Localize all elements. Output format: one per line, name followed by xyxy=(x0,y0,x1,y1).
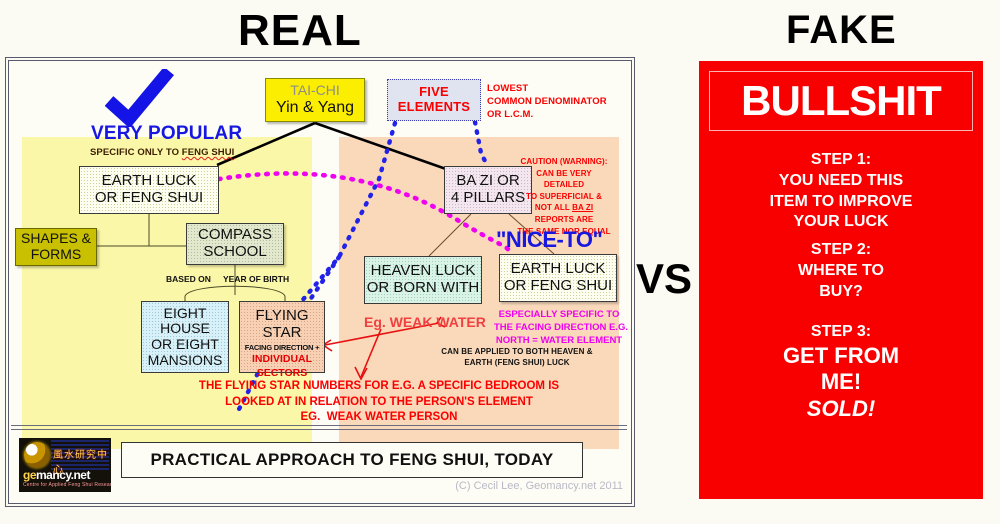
node-flying-star-line2: STAR xyxy=(263,325,302,342)
step3-line2: GET FROM xyxy=(700,343,982,369)
node-heaven-line2: OR BORN WITH xyxy=(367,280,480,297)
especially-specific-note: ESPECIALLY SPECIFIC TOTHE FACING DIRECTI… xyxy=(494,309,624,347)
blue-check-icon xyxy=(105,69,175,127)
specific-only-to-feng-shui-label: SPECIFIC ONLY TO FENG SHUI xyxy=(90,147,234,158)
step1-line3: ITEM TO IMPROVE xyxy=(770,193,913,210)
very-popular-label: VERY POPULAR xyxy=(91,123,242,145)
step-2-block: STEP 2: WHERE TO BUY? xyxy=(700,240,982,302)
flying-star-numbers-note: THE FLYING STAR NUMBERS FOR E.G. A SPECI… xyxy=(169,379,589,426)
caution-line6: REPORTS ARE xyxy=(535,215,594,224)
node-heaven-luck[interactable]: HEAVEN LUCK OR BORN WITH xyxy=(364,256,482,304)
caution-line5-a: NOT ALL xyxy=(535,203,572,212)
can-be-applied-note: CAN BE APPLIED TO BOTH HEAVEN &EARTH (FE… xyxy=(417,346,617,368)
flying-note-line2: LOOKED AT IN RELATION TO THE PERSON'S EL… xyxy=(225,396,533,408)
node-flying-star[interactable]: FLYING STAR FACING DIRECTION + INDIVIDUA… xyxy=(239,301,325,373)
node-flying-star-red1: INDIVIDUAL xyxy=(252,354,312,366)
caution-warning-note: CAUTION (WARNING):CAN BE VERYDETAILEDTO … xyxy=(509,156,619,237)
node-eight-house[interactable]: EIGHT HOUSE OR EIGHT MANSIONS xyxy=(141,301,229,373)
step3-line4: SOLD! xyxy=(700,396,982,422)
caution-line1: CAUTION (WARNING): xyxy=(520,157,607,166)
node-compass-school[interactable]: COMPASS SCHOOL xyxy=(186,223,284,265)
flying-note-line1: THE FLYING STAR NUMBERS FOR E.G. A SPECI… xyxy=(199,380,559,392)
lcm-line3: OR L.C.M. xyxy=(487,109,533,120)
node-five-elements[interactable]: FIVE ELEMENTS xyxy=(387,79,481,121)
node-earth-luck-feng-shui-right[interactable]: EARTH LUCK OR FENG SHUI xyxy=(499,254,617,302)
node-flying-star-line1: FLYING xyxy=(255,308,308,325)
lcm-line2: COMMON DENOMINATOR xyxy=(487,96,607,107)
especially-line1: ESPECIALLY SPECIFIC TO xyxy=(499,309,620,320)
node-tai-chi-line2: Yin & Yang xyxy=(276,99,354,117)
specific-underlined: FENG SHUI xyxy=(182,147,235,158)
step2-line2: WHERE TO xyxy=(798,262,884,279)
node-shapes-line1: SHAPES & xyxy=(21,231,91,247)
node-five-elements-line1: FIVE xyxy=(419,85,449,100)
node-earth-luck-left-line2: OR FENG SHUI xyxy=(95,190,203,207)
step2-line1: STEP 2: xyxy=(811,241,871,258)
caution-line5-b: BA ZI xyxy=(572,203,593,212)
node-earth-luck-left-line1: EARTH LUCK xyxy=(102,173,197,190)
step3-line3: ME! xyxy=(700,369,982,395)
especially-line2: THE FACING DIRECTION E.G. xyxy=(494,322,628,333)
flying-note-line3: EG. WEAK WATER PERSON xyxy=(301,411,458,423)
step-3-block: STEP 3: GET FROM ME! SOLD! xyxy=(700,322,982,422)
fake-bullshit-panel: BULLSHIT STEP 1: YOU NEED THIS ITEM TO I… xyxy=(700,62,982,498)
step1-line1: STEP 1: xyxy=(811,151,871,168)
vs-label: VS xyxy=(636,255,692,303)
real-panel-inner: VERY POPULAR SPECIFIC ONLY TO FENG SHUI … xyxy=(9,61,631,503)
step-1-block: STEP 1: YOU NEED THIS ITEM TO IMPROVE YO… xyxy=(700,150,982,233)
step1-line2: YOU NEED THIS xyxy=(779,172,903,189)
node-compass-line1: COMPASS xyxy=(198,227,272,244)
node-earth-luck-feng-shui-left[interactable]: EARTH LUCK OR FENG SHUI xyxy=(79,166,219,214)
applied-line1: CAN BE APPLIED TO BOTH HEAVEN & xyxy=(441,347,592,356)
node-eight-house-line3: OR EIGHT xyxy=(151,337,219,353)
node-shapes-line2: FORMS xyxy=(31,247,82,263)
applied-line2: EARTH (FENG SHUI) LUCK xyxy=(464,358,569,367)
node-tai-chi[interactable]: TAI-CHI Yin & Yang xyxy=(265,78,365,122)
lowest-common-denominator-note: LOWESTCOMMON DENOMINATOROR L.C.M. xyxy=(487,83,607,121)
nice-to-label: "NICE-TO" xyxy=(496,227,602,253)
page-title-fake: FAKE xyxy=(786,8,897,53)
specific-prefix: SPECIFIC ONLY TO xyxy=(90,147,182,158)
step3-line1: STEP 3: xyxy=(811,323,871,340)
node-eight-house-line2: HOUSE xyxy=(160,321,210,337)
caution-line2: CAN BE VERY xyxy=(536,169,591,178)
node-flying-star-sub: FACING DIRECTION + xyxy=(245,344,320,352)
step1-line4: YOUR LUCK xyxy=(793,213,888,230)
node-tai-chi-line1: TAI-CHI xyxy=(290,83,340,99)
step2-line3: BUY? xyxy=(819,283,863,300)
node-eight-house-line4: MANSIONS xyxy=(148,353,223,369)
node-shapes-and-forms[interactable]: SHAPES & FORMS xyxy=(15,228,97,266)
year-of-birth-label: YEAR OF BIRTH xyxy=(223,274,289,284)
node-five-elements-line2: ELEMENTS xyxy=(398,100,470,115)
caution-line4: TO SUPERFICIAL & xyxy=(526,192,602,201)
caution-line3: DETAILED xyxy=(544,180,584,189)
poster-stage: REAL FAKE VS xyxy=(0,0,1000,524)
bullshit-banner: BULLSHIT xyxy=(709,71,973,131)
node-flying-star-red2: SECTORS xyxy=(257,368,308,380)
node-earth-luck-right-line1: EARTH LUCK xyxy=(511,261,606,278)
based-on-label: BASED ON xyxy=(166,274,211,284)
especially-line3: NORTH = WATER ELEMENT xyxy=(496,335,622,346)
real-diagram-panel: VERY POPULAR SPECIFIC ONLY TO FENG SHUI … xyxy=(8,60,632,504)
node-earth-luck-right-line2: OR FENG SHUI xyxy=(504,278,612,295)
node-eight-house-line1: EIGHT xyxy=(164,306,207,322)
page-title-real: REAL xyxy=(238,6,362,56)
lcm-line1: LOWEST xyxy=(487,83,528,94)
bullshit-text: BULLSHIT xyxy=(741,77,941,125)
node-heaven-line1: HEAVEN LUCK xyxy=(371,263,476,280)
node-compass-line2: SCHOOL xyxy=(203,244,266,261)
weak-water-label: Eg. WEAK WATER xyxy=(364,314,486,330)
